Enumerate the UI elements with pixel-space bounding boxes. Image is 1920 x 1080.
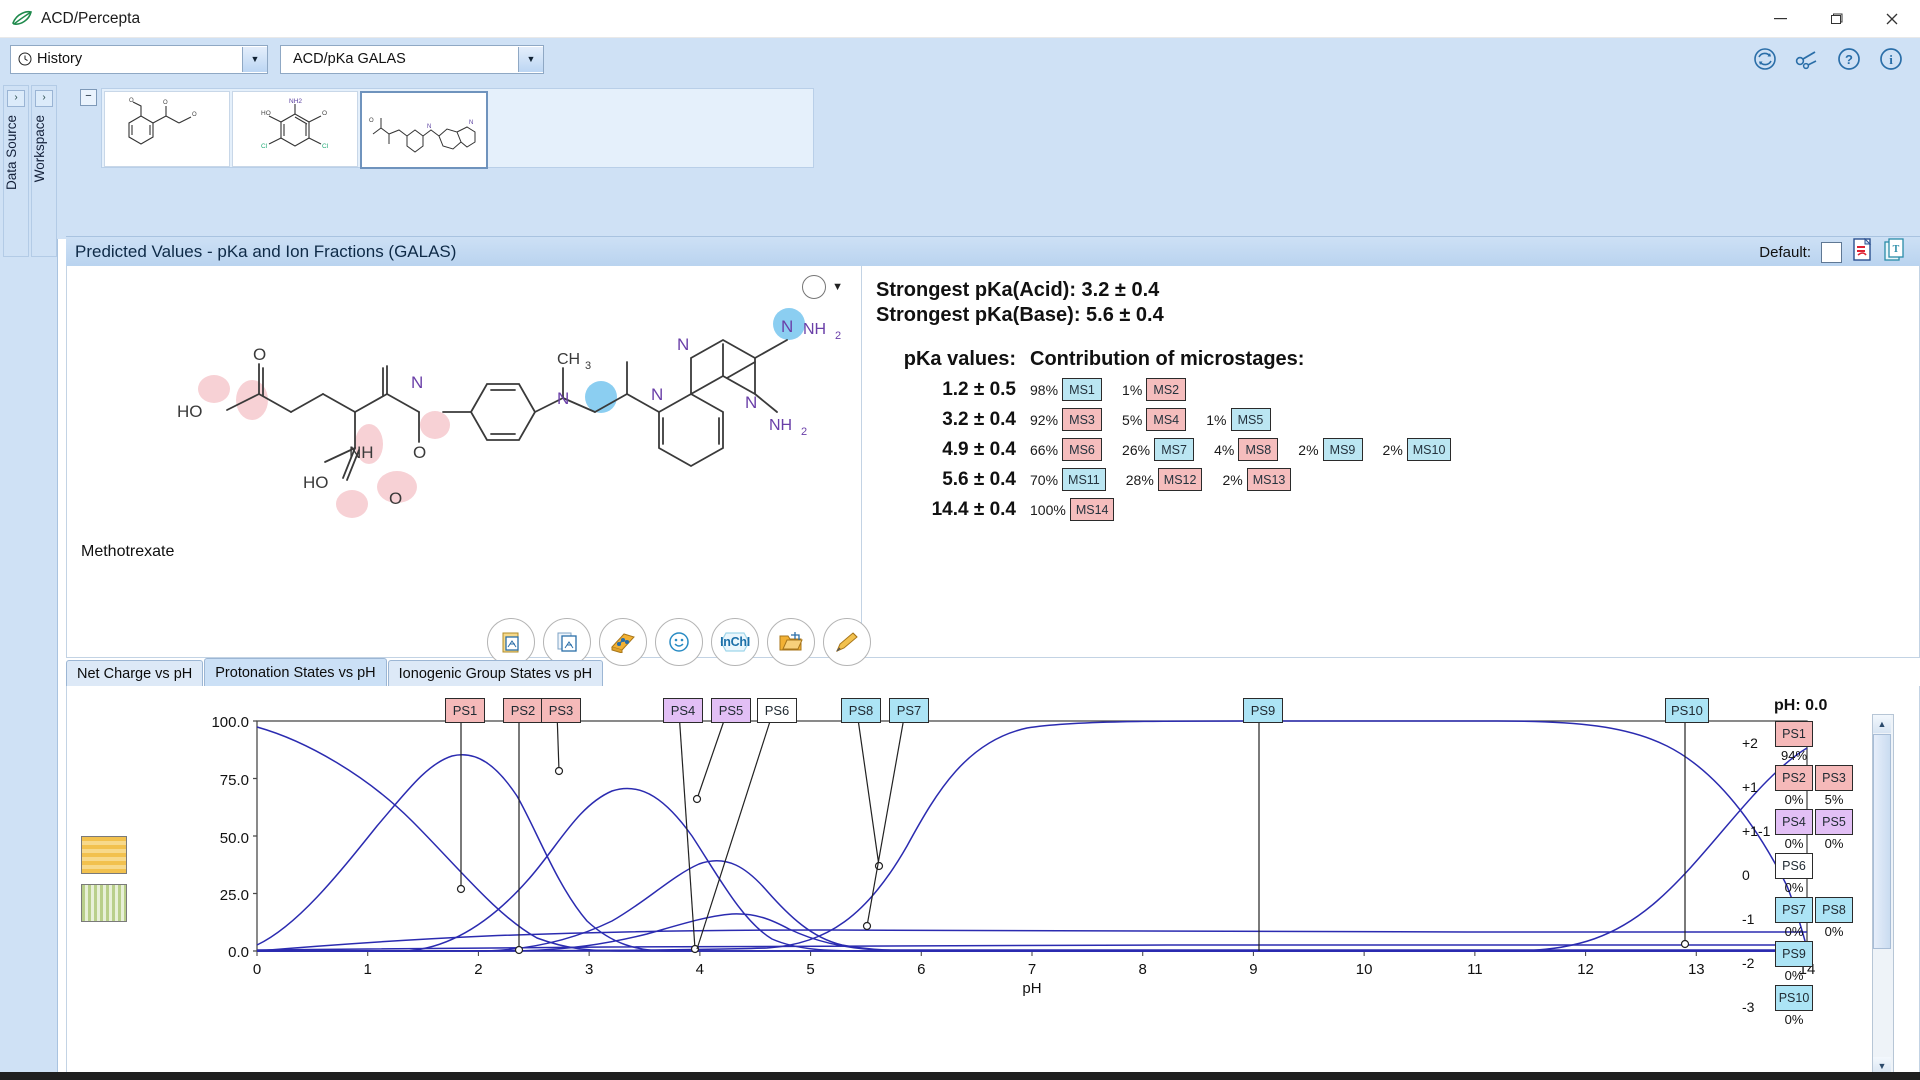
microstage-list: 92%MS35%MS41%MS5 [1016,408,1291,431]
x-tick-label: 0 [253,961,261,978]
microstage-tag[interactable]: MS1 [1062,378,1102,401]
microstage-item: 1%MS2 [1122,378,1186,401]
legend-state-percent: 0% [1775,924,1813,939]
pka-values-header: pKa values: [876,348,1016,371]
tab-protonation-states[interactable]: Protonation States vs pH [204,658,386,686]
legend-state-percent: 0% [1815,836,1853,851]
legend-state-percent: 0% [1775,1012,1813,1027]
x-tick-label: 9 [1249,961,1257,978]
microstage-list: 100%MS14 [1016,498,1134,521]
minimize-button[interactable] [1752,0,1808,37]
microstage-item: 2%MS13 [1222,468,1291,491]
svg-text:HO: HO [177,402,203,421]
legend-rows: +2PS194%+1PS20%PS35%+1-1PS40%PS50%0PS60%… [1742,721,1892,1027]
microstage-tag[interactable]: MS5 [1231,408,1271,431]
svg-text:75.0: 75.0 [220,772,249,789]
strongest-base-value: Strongest pKa(Base): 5.6 ± 0.4 [876,303,1919,328]
legend-scrollbar[interactable]: ▲ ▼ [1872,714,1894,1076]
clock-icon [18,52,32,66]
tab-label: Net Charge vs pH [77,666,192,682]
svg-text:O: O [369,118,374,124]
tools-icon[interactable] [1794,46,1820,72]
x-tick-label: 6 [917,961,925,978]
microstage-percent: 26% [1122,442,1150,458]
chevron-right-icon[interactable]: › [35,90,53,107]
inchi-label: InChI [720,635,750,649]
microstage-item: 100%MS14 [1030,498,1114,521]
window-controls [1752,0,1920,37]
sidebar-item-data-source[interactable]: › Data Source [3,85,29,257]
results-panel-header: Predicted Values - pKa and Ion Fractions… [66,236,1920,268]
tab-ionogenic-group-states[interactable]: Ionogenic Group States vs pH [388,660,603,686]
microstage-item: 70%MS11 [1030,468,1106,491]
history-dropdown[interactable]: History ▼ [10,45,268,74]
svg-text:50.0: 50.0 [220,830,249,847]
legend-cell: PS40% [1775,809,1813,851]
microstage-percent: 1% [1206,412,1226,428]
sidebar-item-workspace[interactable]: › Workspace [31,85,57,257]
chart-plot: 100.075.0 50.025.0 0.0 01234567891011121… [67,686,1827,1080]
svg-text:NH: NH [349,443,374,462]
svg-text:Cl: Cl [261,143,268,150]
svg-text:O: O [322,110,327,117]
x-tick-label: 13 [1688,961,1705,978]
microstage-tag[interactable]: MS2 [1146,378,1186,401]
svg-text:N: N [411,373,423,392]
microstage-item: 2%MS10 [1383,438,1452,461]
protonation-state-marker[interactable]: PS6 [757,698,797,723]
svg-text:NH2: NH2 [289,98,302,105]
legend-cell: PS100% [1775,985,1813,1027]
strongest-acid-value: Strongest pKa(Acid): 3.2 ± 0.4 [876,278,1919,303]
svg-text:N: N [651,385,663,404]
microstage-percent: 28% [1126,472,1154,488]
microstage-tag[interactable]: MS3 [1062,408,1102,431]
x-tick-label: 3 [585,961,593,978]
legend-row: 0PS60% [1742,853,1892,895]
legend-state-tag[interactable]: PS9 [1775,941,1813,967]
svg-text:T: T [1893,244,1900,255]
x-tick-label: 12 [1577,961,1594,978]
panel-header-actions: Default: T [1759,238,1920,266]
maximize-button[interactable] [1808,0,1864,37]
net-charge-label: 0 [1742,853,1775,883]
default-label: Default: [1759,244,1811,261]
structure-viewer: ▼ [67,266,862,656]
net-charge-label: +1 [1742,765,1775,795]
legend-state-tag[interactable]: PS4 [1775,809,1813,835]
compound-thumb-3[interactable]: O N N [360,91,488,169]
svg-text:O: O [413,443,426,462]
svg-text:HO: HO [261,110,271,117]
x-tick-label: 2 [474,961,482,978]
ribbon-actions: ? i [1752,46,1920,72]
compound-thumb-empty [616,91,740,165]
pka-row: 1.2 ± 0.598%MS11%MS2 [876,378,1919,401]
legend-cell: PS80% [1815,897,1853,939]
tab-net-charge[interactable]: Net Charge vs pH [66,660,203,686]
microstage-percent: 2% [1222,472,1242,488]
svg-text:N: N [469,120,473,126]
svg-text:CH: CH [557,351,580,368]
microstage-item: 2%MS9 [1298,438,1362,461]
legend-state-percent: 0% [1815,924,1853,939]
info-icon[interactable]: i [1878,46,1904,72]
svg-text:O: O [192,112,197,118]
pka-value: 5.6 ± 0.4 [876,469,1016,491]
sidebar-item-label: Workspace [32,115,56,182]
compound-thumb-empty [490,91,614,165]
chevron-right-icon[interactable]: › [7,90,25,107]
x-tick-label: 10 [1356,961,1373,978]
microstage-list: 70%MS1128%MS122%MS13 [1016,468,1311,491]
protonation-state-marker[interactable]: PS9 [1243,698,1283,723]
ph-readout: pH: 0.0 [1774,697,1892,715]
close-button[interactable] [1864,0,1920,37]
legend-cell: PS20% [1775,765,1813,807]
legend-row: -1PS70%PS80% [1742,897,1892,939]
legend-state-percent: 94% [1775,748,1813,763]
microstage-percent: 100% [1030,502,1066,518]
svg-text:3: 3 [585,360,591,372]
net-charge-label: -1 [1742,897,1775,927]
pka-row: 5.6 ± 0.470%MS1128%MS122%MS13 [876,468,1919,491]
legend-row: +1-1PS40%PS50% [1742,809,1892,851]
protonation-state-marker[interactable]: PS4 [663,698,703,723]
svg-text:Cl: Cl [322,143,329,150]
svg-text:i: i [1889,52,1893,67]
compound-name: Methotrexate [81,543,174,561]
default-checkbox[interactable] [1821,242,1842,263]
microstage-list: 66%MS626%MS74%MS82%MS92%MS10 [1016,438,1471,461]
microstages-header: Contribution of microstages: [1016,348,1304,371]
legend-state-percent: 5% [1815,792,1853,807]
pka-value: 1.2 ± 0.5 [876,379,1016,401]
taskbar [0,1072,1920,1080]
legend-state-tag[interactable]: PS1 [1775,721,1813,747]
help-icon[interactable]: ? [1836,46,1862,72]
legend-cell: PS194% [1775,721,1813,763]
state-legend: pH: 0.0 +2PS194%+1PS20%PS35%+1-1PS40%PS5… [1742,692,1892,1080]
svg-text:O: O [163,100,168,106]
svg-text:N: N [677,335,689,354]
microstage-item: 1%MS5 [1206,408,1270,431]
svg-text:N: N [745,393,757,412]
tab-label: Protonation States vs pH [215,665,375,681]
compound-thumb-1[interactable]: O O O [104,91,230,167]
svg-text:?: ? [1845,52,1853,67]
protonation-state-marker[interactable]: PS3 [541,698,581,723]
pka-rows: 1.2 ± 0.598%MS11%MS23.2 ± 0.492%MS35%MS4… [876,378,1919,521]
svg-text:NH: NH [803,321,826,338]
legend-state-tag[interactable]: PS6 [1775,853,1813,879]
net-charge-label: +1-1 [1742,809,1775,839]
window-title: ACD/Percepta [41,10,140,28]
app-window: ACD/Percepta History ▼ ACD/pKa GALA [0,0,1920,1080]
legend-state-tag[interactable]: PS8 [1815,897,1853,923]
predicted-values: Strongest pKa(Acid): 3.2 ± 0.4 Strongest… [862,266,1919,657]
microstage-percent: 98% [1030,382,1058,398]
protonation-state-marker[interactable]: PS2 [503,698,543,723]
x-tick-label: 5 [806,961,814,978]
microstage-item: 66%MS6 [1030,438,1102,461]
pka-value: 3.2 ± 0.4 [876,409,1016,431]
legend-state-tag[interactable]: PS2 [1775,765,1813,791]
x-tick-label: 7 [1028,961,1036,978]
microstage-item: 92%MS3 [1030,408,1102,431]
history-value: History [37,51,242,67]
microstage-tag[interactable]: MS14 [1070,498,1115,521]
svg-text:2: 2 [835,330,841,342]
svg-text:N: N [781,317,793,336]
svg-text:25.0: 25.0 [220,887,249,904]
compound-strip: − O O O [57,79,1920,239]
legend-state-tag[interactable]: PS7 [1775,897,1813,923]
legend-state-tag[interactable]: PS5 [1815,809,1853,835]
microstage-tag[interactable]: MS7 [1154,438,1194,461]
x-tick-label: 11 [1467,961,1483,978]
compound-thumbnail-list: O O O NH2 HO O Cl Cl [101,88,814,168]
module-dropdown[interactable]: ACD/pKa GALAS ▼ [280,45,544,74]
pka-row: 3.2 ± 0.492%MS35%MS41%MS5 [876,408,1919,431]
chevron-down-icon[interactable]: ▼ [242,47,267,72]
microstage-percent: 70% [1030,472,1058,488]
microstage-list: 98%MS11%MS2 [1016,378,1206,401]
microstage-item: 28%MS12 [1126,468,1203,491]
legend-cell: PS70% [1775,897,1813,939]
compound-thumb-2[interactable]: NH2 HO O Cl Cl [232,91,358,167]
microstage-item: 5%MS4 [1122,408,1186,431]
legend-row: +1PS20%PS35% [1742,765,1892,807]
protonation-state-marker[interactable]: PS8 [841,698,881,723]
svg-text:N: N [557,389,569,408]
x-tick-label: 4 [696,961,704,978]
net-charge-label: -3 [1742,985,1775,1015]
microstage-tag[interactable]: MS8 [1238,438,1278,461]
microstage-percent: 2% [1383,442,1403,458]
microstage-tag[interactable]: MS12 [1158,468,1203,491]
net-charge-label: +2 [1742,721,1775,751]
chart-tab-bar: Net Charge vs pH Protonation States vs p… [66,658,1920,687]
microstage-item: 26%MS7 [1122,438,1194,461]
svg-text:100.0: 100.0 [211,714,249,731]
x-axis-label: pH [1022,980,1041,997]
net-charge-label: -2 [1742,941,1775,971]
results-panel: ▼ [66,266,1920,658]
microstage-percent: 92% [1030,412,1058,428]
methotrexate-structure: HO O HO O N O CH 3 N N N N N NH 2 NH 2 [77,272,847,572]
protonation-state-marker[interactable]: PS1 [445,698,485,723]
pka-row: 4.9 ± 0.466%MS626%MS74%MS82%MS92%MS10 [876,438,1919,461]
pka-row: 14.4 ± 0.4100%MS14 [876,498,1919,521]
microstage-tag[interactable]: MS13 [1247,468,1292,491]
microstage-item: 98%MS1 [1030,378,1102,401]
legend-state-percent: 0% [1775,968,1813,983]
microstage-percent: 5% [1122,412,1142,428]
microstage-tag[interactable]: MS4 [1146,408,1186,431]
legend-state-percent: 0% [1775,880,1813,895]
page-title: Predicted Values - pKa and Ion Fractions… [66,242,456,262]
legend-state-tag[interactable]: PS3 [1815,765,1853,791]
legend-cell: PS90% [1775,941,1813,983]
sync-icon[interactable] [1752,46,1778,72]
acd-leaf-icon [11,9,33,29]
legend-row: -2PS90% [1742,941,1892,983]
legend-state-percent: 0% [1775,836,1813,851]
svg-text:NH: NH [769,417,792,434]
sidebar-item-label: Data Source [4,115,28,190]
svg-text:O: O [389,489,402,508]
pka-value: 14.4 ± 0.4 [876,499,1016,521]
title-bar: ACD/Percepta [0,0,1920,38]
scroll-up-icon[interactable]: ▲ [1873,715,1891,733]
pka-table-header: pKa values: Contribution of microstages: [876,348,1919,371]
microstage-percent: 4% [1214,442,1234,458]
x-tick-label: 8 [1139,961,1147,978]
tab-label: Ionogenic Group States vs pH [399,666,592,682]
protonation-state-marker[interactable]: PS5 [711,698,751,723]
chevron-down-icon[interactable]: ▼ [518,47,543,72]
microstage-tag[interactable]: MS10 [1407,438,1452,461]
protonation-state-marker[interactable]: PS10 [1665,698,1709,723]
svg-text:2: 2 [801,426,807,438]
svg-text:HO: HO [303,473,329,492]
module-value: ACD/pKa GALAS [281,51,518,67]
microstage-tag[interactable]: MS6 [1062,438,1102,461]
legend-cell: PS60% [1775,853,1813,895]
legend-state-tag[interactable]: PS10 [1775,985,1813,1011]
scrollbar-thumb[interactable] [1873,734,1891,949]
svg-text:O: O [129,98,134,104]
left-tab-strip: › Data Source › Workspace [0,79,58,1080]
svg-text:0.0: 0.0 [228,944,249,961]
microstage-tag[interactable]: MS11 [1062,468,1106,491]
svg-text:N: N [427,124,431,130]
text-export-icon[interactable]: T [1884,238,1906,266]
microstage-percent: 1% [1122,382,1142,398]
selector-bar: History ▼ ACD/pKa GALAS ▼ ? [0,38,1920,81]
legend-cell: PS35% [1815,765,1853,807]
microstage-tag[interactable]: MS9 [1323,438,1363,461]
collapse-button[interactable]: − [80,89,97,106]
protonation-chart-panel: 100.075.0 50.025.0 0.0 01234567891011121… [66,686,1920,1080]
protonation-state-marker[interactable]: PS7 [889,698,929,723]
legend-state-percent: 0% [1775,792,1813,807]
svg-text:O: O [253,345,266,364]
microstage-percent: 2% [1298,442,1318,458]
x-tick-label: 1 [364,961,372,978]
pka-value: 4.9 ± 0.4 [876,439,1016,461]
legend-row: -3PS100% [1742,985,1892,1027]
legend-row: +2PS194% [1742,721,1892,763]
legend-cell: PS50% [1815,809,1853,851]
microstage-item: 4%MS8 [1214,438,1278,461]
pdf-export-icon[interactable] [1852,238,1874,266]
microstage-percent: 66% [1030,442,1058,458]
